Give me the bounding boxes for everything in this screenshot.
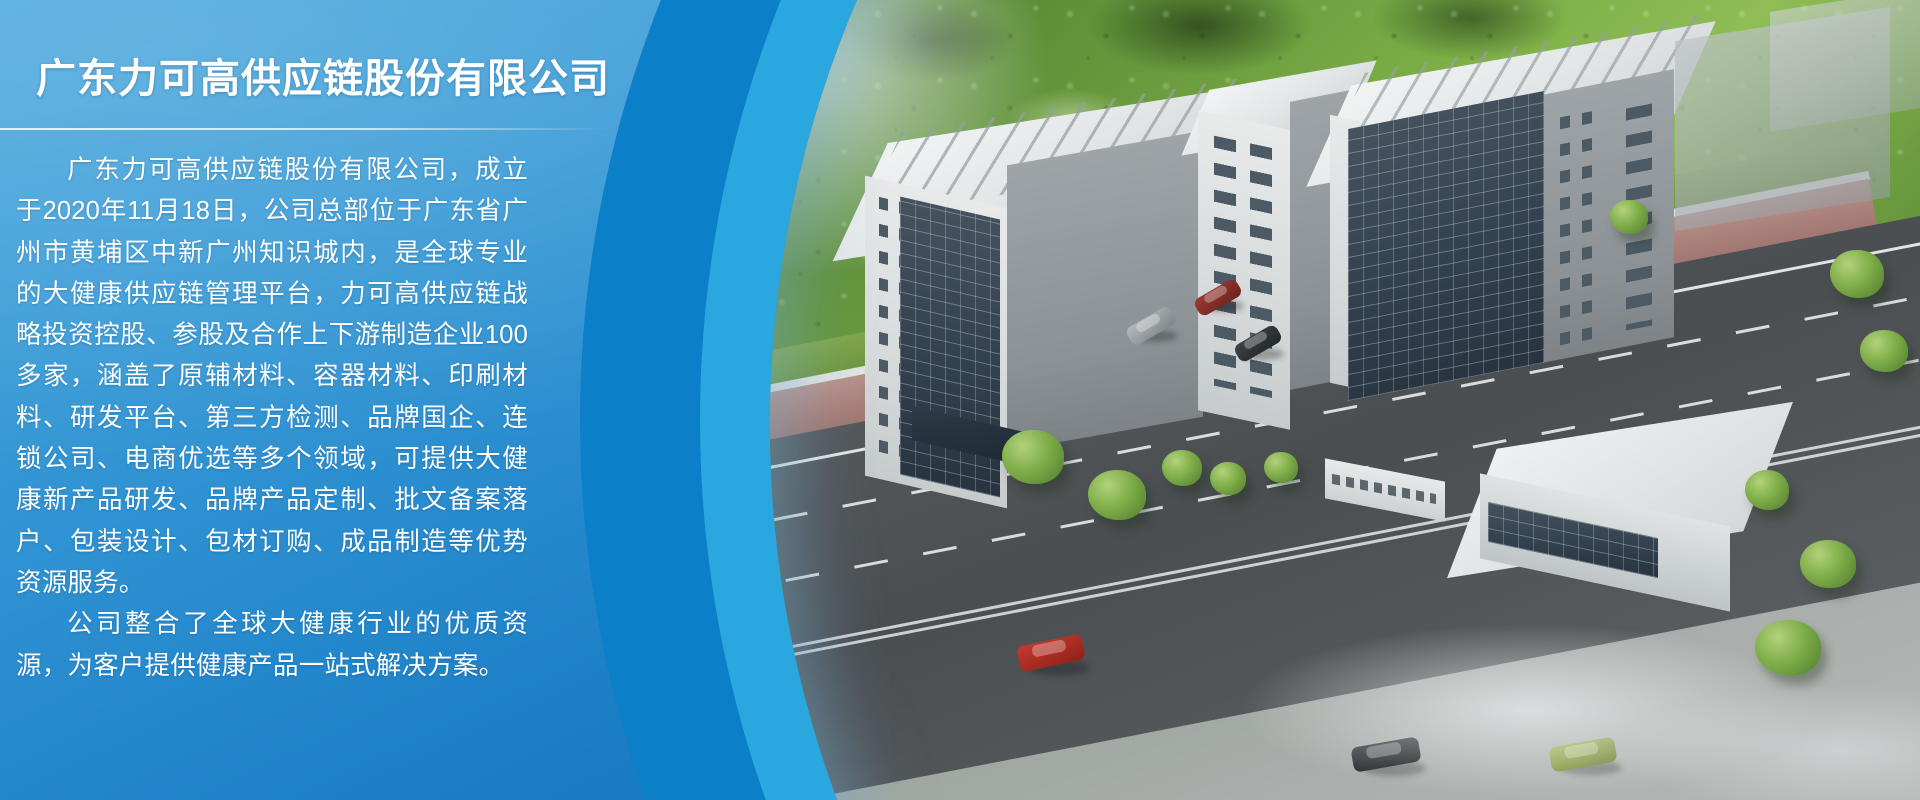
tree (1860, 330, 1908, 372)
building-a-side-facade (1007, 131, 1203, 452)
building-c-curtain-wall (1348, 91, 1544, 401)
company-description: 广东力可高供应链股份有限公司，成立于2020年11月18日，公司总部位于广东省广… (16, 150, 528, 687)
tree (1162, 450, 1202, 486)
tree (1002, 430, 1064, 484)
company-title: 广东力可高供应链股份有限公司 (36, 56, 610, 102)
aerial-render-image (770, 0, 1920, 800)
building-c-side-facade (1542, 69, 1674, 363)
tree (1210, 462, 1246, 495)
title-divider (0, 128, 612, 130)
description-paragraph-2: 公司整合了全球大健康行业的优质资源，为客户提供健康产品一站式解决方案。 (16, 604, 528, 687)
text-column: 广东力可高供应链股份有限公司 广东力可高供应链股份有限公司，成立于2020年11… (0, 0, 620, 800)
company-profile-banner: 广东力可高供应链股份有限公司 广东力可高供应链股份有限公司，成立于2020年11… (0, 0, 1920, 800)
building-b-front-facade (1198, 110, 1290, 430)
tree (1745, 470, 1789, 510)
description-paragraph-1: 广东力可高供应链股份有限公司，成立于2020年11月18日，公司总部位于广东省广… (16, 150, 528, 604)
ground-fog (1200, 600, 1920, 800)
tree (1264, 452, 1298, 483)
tree (1610, 200, 1648, 234)
tree (1088, 470, 1146, 520)
aerial-photo-disc (770, 0, 1920, 800)
tree (1800, 540, 1856, 588)
tree (1830, 250, 1884, 298)
